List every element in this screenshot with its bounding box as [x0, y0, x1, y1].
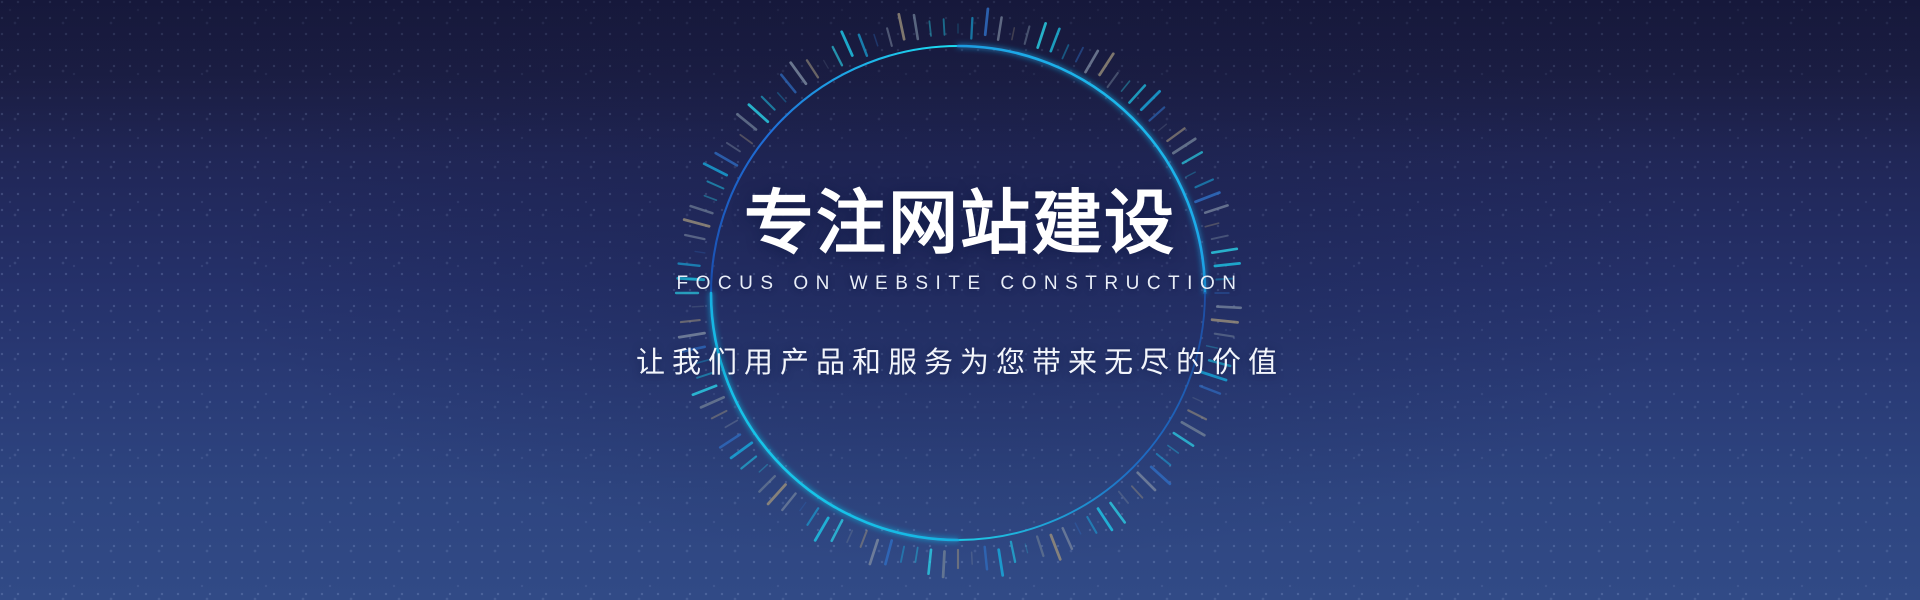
- banner-subtitle-english: FOCUS ON WEBSITE CONSTRUCTION: [677, 273, 1244, 295]
- banner-content: 专注网站建设 FOCUS ON WEBSITE CONSTRUCTION 让我们…: [0, 0, 1920, 600]
- banner-title: 专注网站建设: [744, 187, 1176, 261]
- banner-tagline-chinese: 让我们用产品和服务为您带来无尽的价值: [636, 339, 1284, 381]
- hero-banner: 专注网站建设 FOCUS ON WEBSITE CONSTRUCTION 让我们…: [0, 0, 1920, 600]
